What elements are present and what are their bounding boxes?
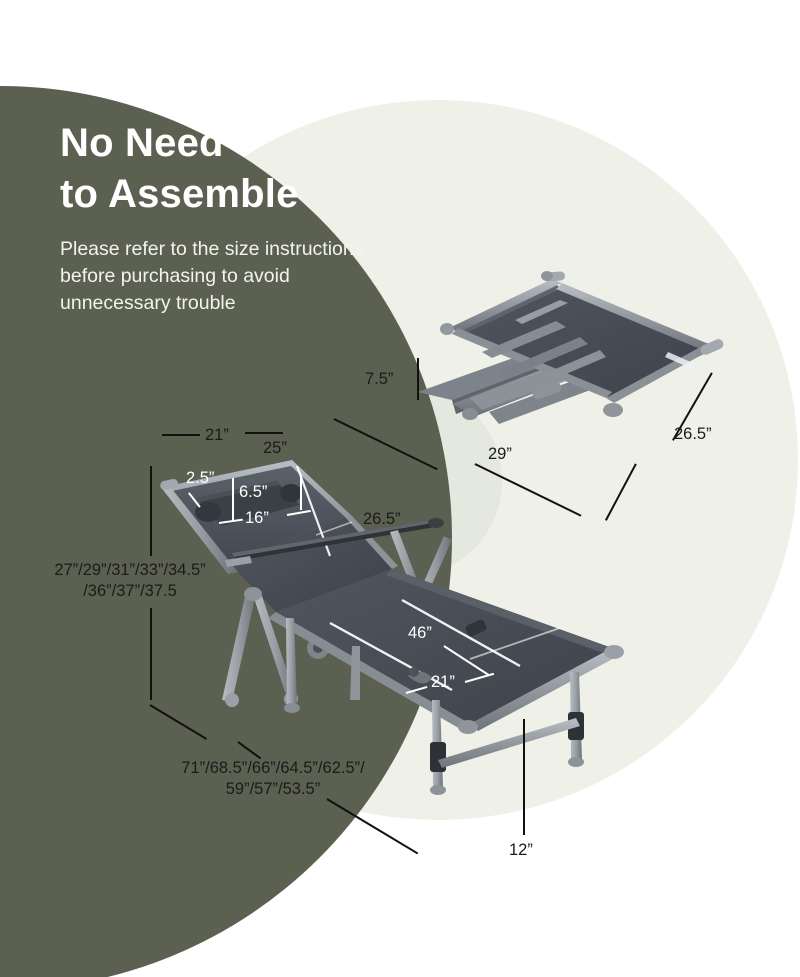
leader-folded-height (417, 358, 419, 400)
dimension-pillow-height: 6.5” (239, 482, 267, 503)
folded-chair-illustration (418, 271, 725, 424)
leader-backrest-heights-lower (150, 608, 152, 700)
dimension-seat-length: 46” (408, 623, 432, 644)
infographic-canvas: No Need to Assemble Please refer to the … (0, 0, 800, 977)
product-illustrations (0, 0, 800, 977)
leader-leg-height (523, 719, 525, 835)
leader-pillow-height (232, 478, 234, 520)
leader-backrest-top-left (162, 434, 200, 436)
dimension-folded-height: 7.5” (365, 369, 393, 390)
dimension-backrest-heights: 27”/29”/31”/33”/34.5” /36”/37”/37.5 (20, 560, 240, 602)
leader-pillow-height-right (300, 474, 302, 510)
dimension-seat-width: 21” (431, 672, 455, 693)
dimension-backrest-top-width: 21” (205, 425, 229, 446)
dimension-folded-length: 29” (488, 444, 512, 465)
leader-backrest-top-right (245, 432, 283, 434)
dimension-folded-width: 26.5” (674, 424, 712, 445)
dimension-pillow-thickness: 2.5” (186, 468, 214, 489)
dimension-pillow-width: 16” (245, 508, 269, 529)
dimension-leg-height: 12” (509, 840, 533, 861)
leader-backrest-heights-upper (150, 466, 152, 556)
dimension-overall-lengths: 71”/68.5”/66”/64.5”/62.5”/ 59”/57”/53.5” (128, 758, 418, 800)
dimension-backrest-width: 25” (263, 438, 287, 459)
dimension-armrest-length: 26.5” (363, 509, 401, 530)
